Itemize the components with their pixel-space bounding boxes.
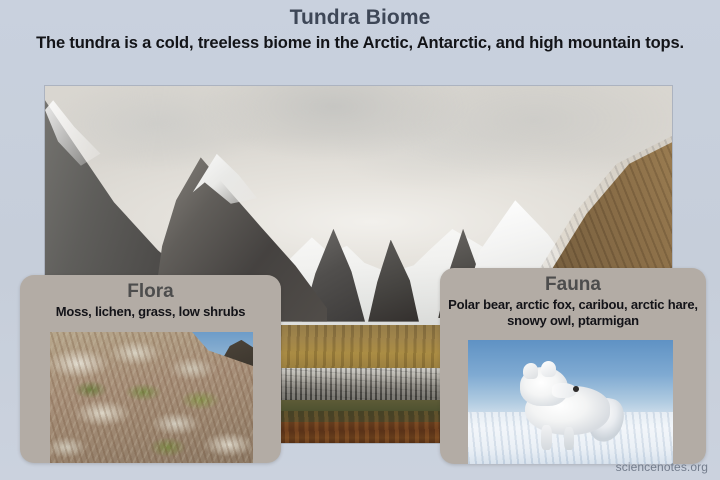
card-fauna: Fauna Polar bear, arctic fox, caribou, a… — [440, 268, 706, 464]
page-subtitle: The tundra is a cold, treeless biome in … — [28, 33, 692, 54]
arctic-fox-hindleg — [564, 427, 574, 450]
card-flora: Flora Moss, lichen, grass, low shrubs — [20, 275, 281, 463]
card-fauna-description: Polar bear, arctic fox, caribou, arctic … — [446, 297, 700, 330]
arctic-fox-ear-right — [541, 361, 556, 376]
card-flora-photo — [50, 332, 253, 463]
arctic-fox-nose — [573, 386, 579, 392]
card-flora-title: Flora — [20, 281, 281, 303]
card-fauna-photo — [468, 340, 673, 464]
arctic-fox-ear-left — [523, 363, 538, 378]
page-title: Tundra Biome — [0, 6, 720, 30]
card-flora-description: Moss, lichen, grass, low shrubs — [26, 304, 275, 320]
arctic-fox-foreleg — [541, 425, 552, 450]
watermark-credit: sciencenotes.org — [616, 460, 708, 474]
card-fauna-title: Fauna — [440, 274, 706, 296]
tundra-biome-infographic: Tundra Biome The tundra is a cold, treel… — [0, 0, 720, 480]
arctic-fox — [513, 357, 628, 454]
header: Tundra Biome The tundra is a cold, treel… — [0, 0, 720, 54]
